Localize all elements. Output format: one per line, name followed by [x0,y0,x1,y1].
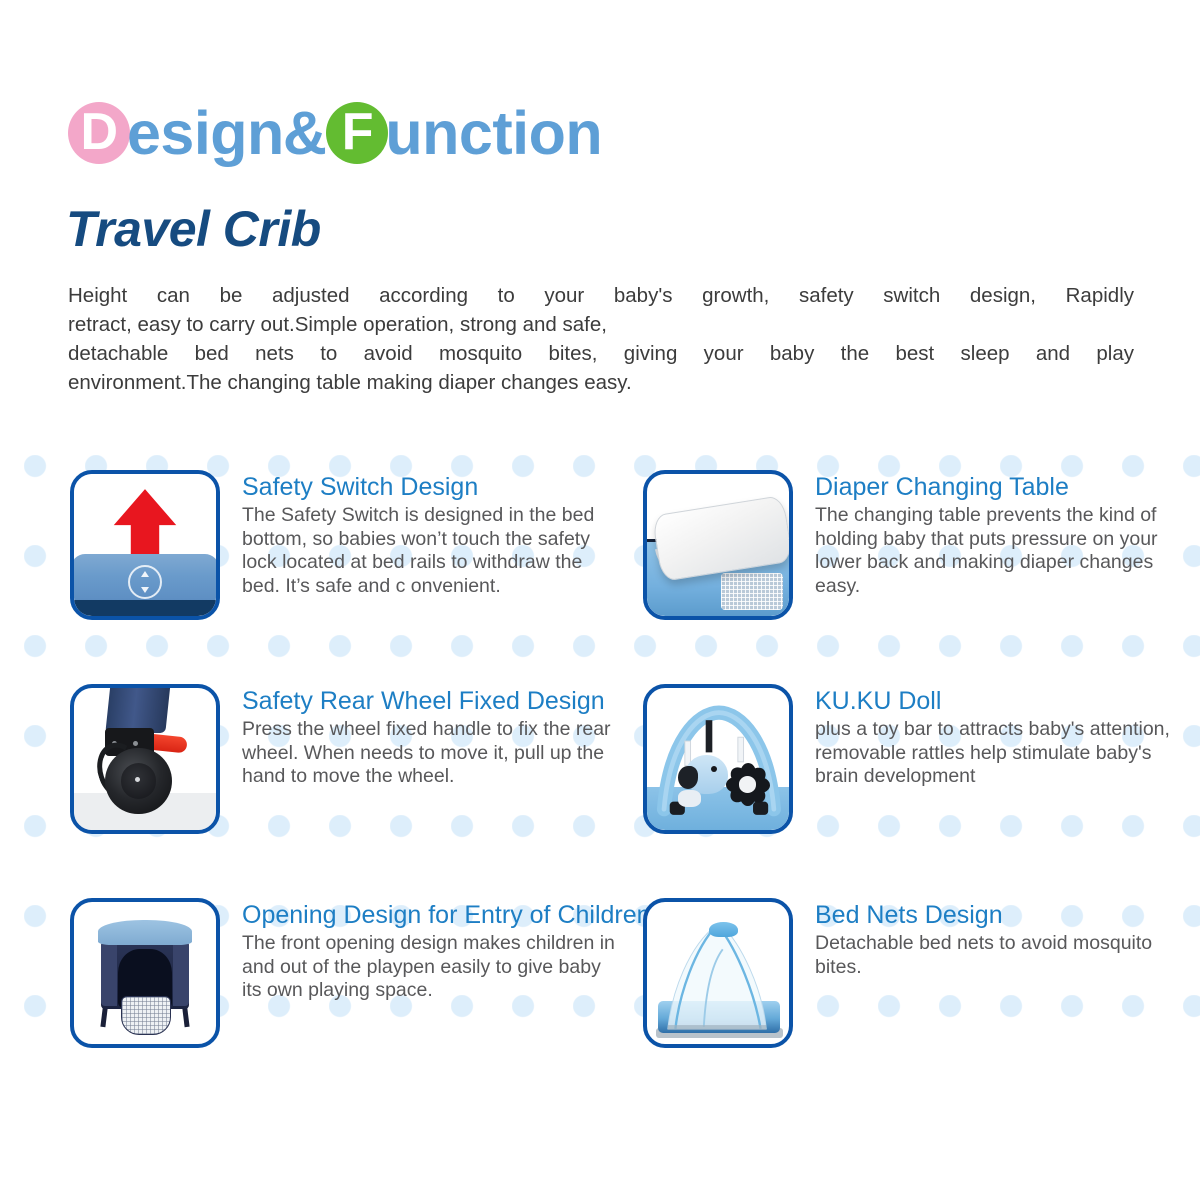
bed-nets-canopy-photo [647,902,789,1044]
intro-line-2: retract, easy to carry out.Simple operat… [68,310,1134,339]
feature-text: Bed Nets Design Detachable bed nets to a… [815,898,1188,979]
toy-bar-doll-photo [647,688,789,830]
feature-thumbnail-rear-wheel[interactable] [70,684,220,834]
intro-line-3: detachable bed nets to avoid mosquito bi… [68,339,1134,368]
logo-text-esign: esign [127,103,284,164]
feature-thumbnail-diaper-changing-table[interactable] [643,470,793,620]
feature-item-bed-nets: Bed Nets Design Detachable bed nets to a… [643,898,1188,1048]
feature-text: Opening Design for Entry of Children The… [242,898,615,1003]
feature-text: Diaper Changing Table The changing table… [815,470,1188,598]
feature-item-safety-switch: Safety Switch Design The Safety Switch i… [70,470,615,620]
feature-title: Safety Rear Wheel Fixed Design [242,686,615,716]
feature-description: The front opening design makes children … [242,932,615,1003]
intro-line-1: Height can be adjusted according to your… [68,281,1134,310]
feature-item-rear-wheel: Safety Rear Wheel Fixed Design Press the… [70,684,615,834]
letter-badge-d: D [68,102,130,164]
feature-thumbnail-kuku-doll[interactable] [643,684,793,834]
flower-rattle-icon [724,762,772,807]
feature-description: Press the wheel fixed handle to fix the … [242,718,615,789]
logo-wordmark: D esign & F unction [68,102,601,164]
feature-title: Bed Nets Design [815,900,1188,930]
feature-row: Safety Rear Wheel Fixed Design Press the… [0,684,1200,898]
front-opening-playpen-photo [74,902,216,1044]
logo-text-unction: unction [385,103,602,164]
page-title: Travel Crib [66,204,321,254]
product-intro-paragraph: Height can be adjusted according to your… [68,281,1134,397]
height-adjust-icon [128,565,162,599]
rear-wheel-lock-photo [74,688,216,830]
feature-row: Opening Design for Entry of Children The… [0,898,1200,1112]
feature-title: Diaper Changing Table [815,472,1188,502]
feature-description: The changing table prevents the kind of … [815,504,1188,598]
feature-thumbnail-bed-nets[interactable] [643,898,793,1048]
feature-row: Safety Switch Design The Safety Switch i… [0,470,1200,684]
logo-ampersand: & [283,103,327,164]
feature-item-diaper-changing-table: Diaper Changing Table The changing table… [643,470,1188,620]
feature-item-kuku-doll: KU.KU Doll plus a toy bar to attracts ba… [643,684,1188,834]
feature-text: Safety Rear Wheel Fixed Design Press the… [242,684,615,789]
feature-grid: Safety Switch Design The Safety Switch i… [0,470,1200,1112]
feature-thumbnail-safety-switch[interactable] [70,470,220,620]
feature-title: KU.KU Doll [815,686,1188,716]
feature-description: The Safety Switch is designed in the bed… [242,504,615,598]
feature-item-opening-design: Opening Design for Entry of Children The… [70,898,615,1048]
diaper-changing-table-photo [647,474,789,616]
feature-text: KU.KU Doll plus a toy bar to attracts ba… [815,684,1188,789]
feature-text: Safety Switch Design The Safety Switch i… [242,470,615,598]
feature-title: Safety Switch Design [242,472,615,502]
feature-description: plus a toy bar to attracts baby's attent… [815,718,1188,789]
letter-badge-f: F [326,102,388,164]
feature-title: Opening Design for Entry of Children [242,900,615,930]
safety-switch-photo [74,474,216,616]
brand-masthead: D esign & F unction [68,96,601,170]
feature-description: Detachable bed nets to avoid mosquito bi… [815,932,1188,979]
feature-thumbnail-opening-design[interactable] [70,898,220,1048]
intro-line-4: environment.The changing table making di… [68,368,1134,397]
